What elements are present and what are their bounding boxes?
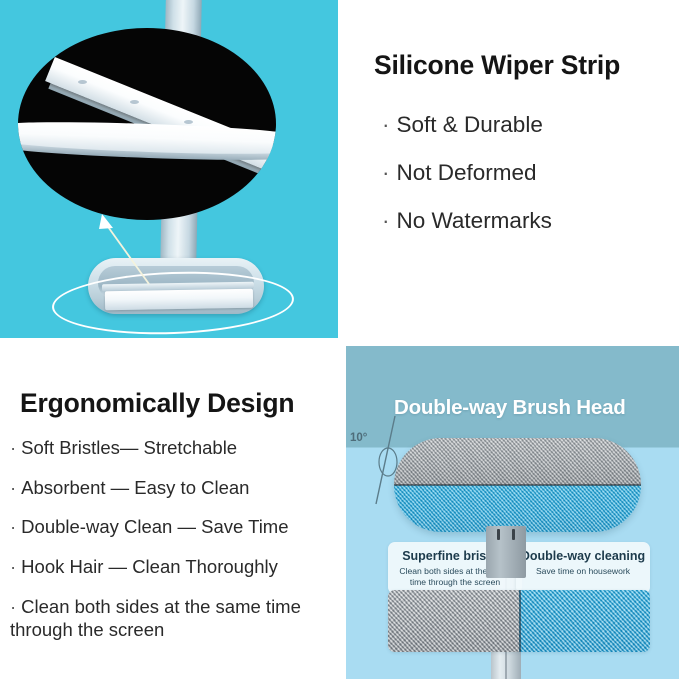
callout-arrow-icon <box>94 212 154 286</box>
list-item: ·Soft Bristles— Stretchable <box>10 436 338 460</box>
bullet-dot-icon: · <box>10 515 16 539</box>
text-panel-silicone-wiper: Silicone Wiper Strip ·Soft & Durable ·No… <box>346 0 679 338</box>
list-item: ·Absorbent — Easy to Clean <box>10 476 338 500</box>
swatch-divider <box>519 590 521 652</box>
angle-label: 10° <box>350 432 367 444</box>
list-item: ·Not Deformed <box>382 160 672 186</box>
grey-bristle-swatch <box>388 590 519 652</box>
feature-label: No Watermarks <box>397 208 552 233</box>
inset-strip-dot <box>130 100 139 104</box>
photo-panel-brush-head: Double-way Brush Head 10° Superfine bris… <box>346 346 679 679</box>
list-item: ·Hook Hair — Clean Thoroughly <box>10 555 338 579</box>
bullet-dot-icon: · <box>10 595 16 619</box>
feature-label: Soft Bristles— Stretchable <box>21 437 237 458</box>
feature-list-wiper: ·Soft & Durable ·Not Deformed ·No Waterm… <box>382 112 672 256</box>
list-item: ·No Watermarks <box>382 208 672 234</box>
page-title-silicone-wiper: Silicone Wiper Strip <box>374 50 620 81</box>
brush-head-heading: Double-way Brush Head <box>394 396 626 420</box>
caption-subtitle: Save time on housework <box>516 566 650 577</box>
bullet-dot-icon: · <box>10 555 16 579</box>
inset-strip-dot <box>184 120 193 124</box>
handle-notch <box>497 529 500 540</box>
caption-card-double-way-cleaning: Double-way cleaning Save time on housewo… <box>516 542 650 594</box>
handle-notch <box>512 529 515 540</box>
feature-list-ergonomic: ·Soft Bristles— Stretchable ·Absorbent —… <box>10 436 338 658</box>
brush-head-pad <box>394 438 641 532</box>
feature-label: Hook Hair — Clean Thoroughly <box>21 556 278 577</box>
brush-pad-grey-side <box>394 438 641 485</box>
feature-label: Absorbent — Easy to Clean <box>21 477 249 498</box>
inset-strip-dot <box>78 80 87 84</box>
bullet-dot-icon: · <box>382 208 390 234</box>
bullet-dot-icon: · <box>382 160 390 186</box>
text-panel-ergonomically-design: Ergonomically Design ·Soft Bristles— Str… <box>0 346 338 679</box>
zoom-inset-circle <box>18 28 276 220</box>
brush-pad-blue-side <box>394 485 641 532</box>
bullet-dot-icon: · <box>382 112 390 138</box>
list-item: ·Clean both sides at the same time throu… <box>10 595 338 642</box>
brush-pad-divider <box>394 484 641 486</box>
bristle-swatch-panel <box>388 590 650 652</box>
feature-label: Double-way Clean — Save Time <box>21 516 288 537</box>
list-item: ·Soft & Durable <box>382 112 672 138</box>
list-item: ·Double-way Clean — Save Time <box>10 515 338 539</box>
bullet-dot-icon: · <box>10 436 16 460</box>
page-title-ergonomically-design: Ergonomically Design <box>20 388 294 419</box>
blue-bristle-swatch <box>519 590 650 652</box>
brush-handle-neck <box>486 526 526 578</box>
feature-label: Clean both sides at the same time throug… <box>10 596 301 641</box>
infographic-page: Silicone Wiper Strip ·Soft & Durable ·No… <box>0 0 679 679</box>
photo-panel-silicone-wiper <box>0 0 338 338</box>
highlight-ellipse <box>51 268 295 338</box>
feature-label: Soft & Durable <box>397 112 543 137</box>
feature-label: Not Deformed <box>397 160 537 185</box>
caption-title: Double-way cleaning <box>516 549 650 563</box>
bullet-dot-icon: · <box>10 476 16 500</box>
